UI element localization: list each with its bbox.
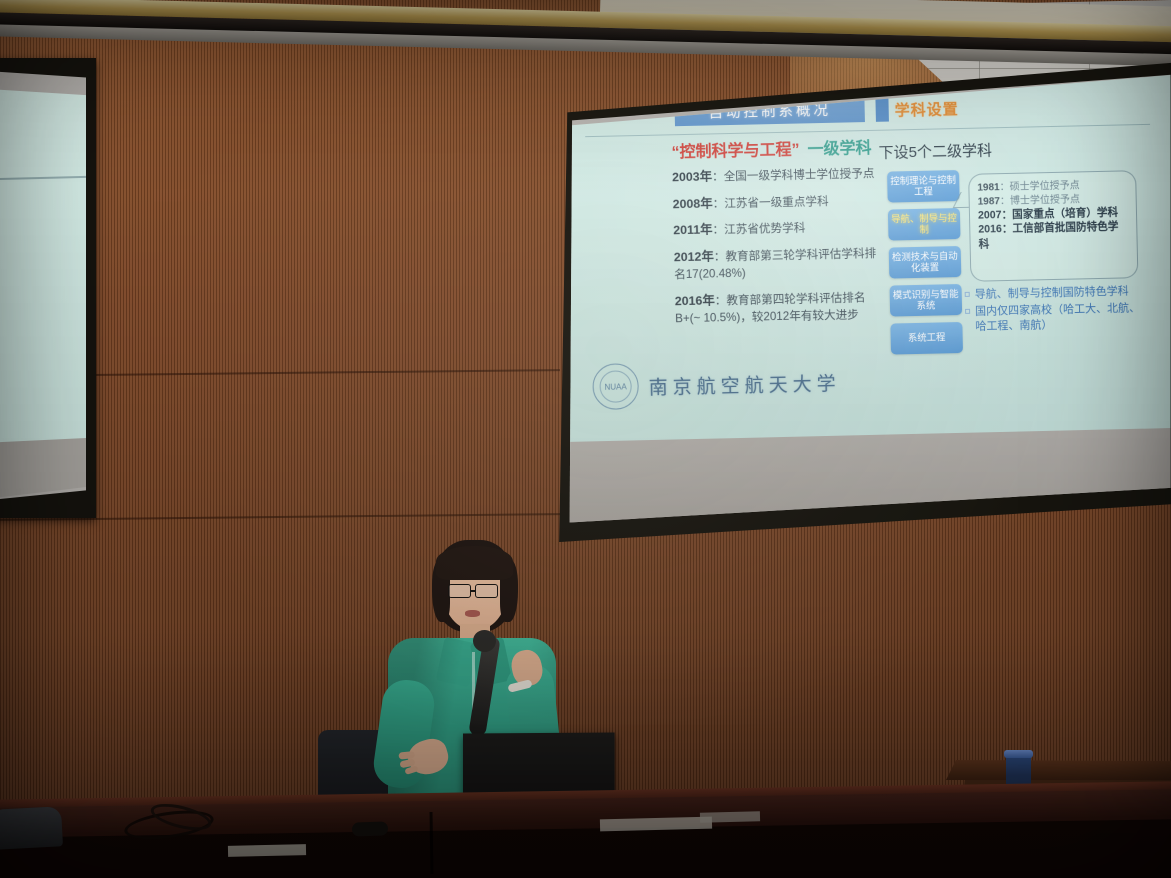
timeline-item: 2003年：全国一级学科博士学位授予点 <box>672 164 877 187</box>
sub-discipline-box: 控制理论与控制工程 <box>887 170 960 203</box>
callout-sep: ： <box>1000 182 1010 193</box>
bullet-marker-icon <box>965 309 970 314</box>
callout-year: 1987 <box>978 196 1000 207</box>
timeline-sep: ： <box>712 223 724 236</box>
callout-text: 博士学位授予点 <box>1010 194 1080 207</box>
bullet-marker-icon <box>965 292 970 297</box>
sub-discipline-box: 模式识别与智能系统 <box>890 284 963 317</box>
timeline-sep: ： <box>713 197 725 210</box>
timeline-year: 2012年 <box>674 249 714 264</box>
projected-slide: 自动控制系概况 学科设置 “控制科学与工程”一级学科 下设5个二级学科 2003… <box>566 72 1171 452</box>
mouth <box>465 610 480 617</box>
callout-year: 1981 <box>977 182 999 193</box>
sub-discipline-box: 检测技术与自动化装置 <box>889 246 962 279</box>
timeline-year: 2011年 <box>673 223 713 238</box>
bullet-item: 国内仅四家高校（哈工大、北航、哈工程、南航） <box>965 301 1146 334</box>
fringe <box>436 546 513 580</box>
desk-device[interactable] <box>352 821 388 836</box>
timeline-sep: ： <box>714 250 726 263</box>
timeline-item: 2011年：江苏省优势学科 <box>673 217 878 240</box>
callout-text: 国家重点（培育）学科 <box>1012 207 1118 221</box>
bullet-text: 国内仅四家高校（哈工大、北航、哈工程、南航） <box>975 301 1146 333</box>
bullet-text: 导航、制导与控制国防特色学科 <box>975 284 1129 302</box>
paper-sheet <box>228 844 306 857</box>
sub-discipline-boxes: 控制理论与控制工程 导航、制导与控制 检测技术与自动化装置 模式识别与智能系统 … <box>887 170 963 362</box>
callout-year: 2007 <box>978 209 1002 222</box>
timeline-item: 2008年：江苏省一级重点学科 <box>672 190 877 213</box>
slide-section-label: 学科设置 <box>894 98 958 120</box>
slide-title-level: 一级学科 <box>807 140 871 158</box>
bottle-lid <box>1004 750 1033 758</box>
main-projection-screen[interactable]: 自动控制系概况 学科设置 “控制科学与工程”一级学科 下设5个二级学科 2003… <box>566 72 1171 528</box>
timeline-item: 2016年：教育部第四轮学科评估排名B+(~ 10.5%)，较2012年有较大进… <box>675 288 881 328</box>
callout-box: 1981：硕士学位授予点 1987：博士学位授予点 2007：国家重点（培育）学… <box>968 170 1138 282</box>
eyeglasses-left-lens <box>448 584 471 598</box>
callout-year: 2016 <box>978 223 1002 236</box>
slide-header-tick <box>875 96 889 122</box>
slide-bullet-list: 导航、制导与控制国防特色学科 国内仅四家高校（哈工大、北航、哈工程、南航） <box>965 284 1146 337</box>
slide-timeline-list: 2003年：全国一级学科博士学位授予点 2008年：江苏省一级重点学科 2011… <box>672 164 881 336</box>
timeline-sep: ： <box>712 170 724 183</box>
paper-sheet <box>700 811 760 822</box>
bullet-item: 导航、制导与控制国防特色学科 <box>965 284 1145 302</box>
secondary-projection-screen <box>0 66 86 508</box>
timeline-year: 2008年 <box>673 196 713 211</box>
callout-sep: ： <box>1000 195 1010 206</box>
secondary-screen-slide <box>0 84 86 456</box>
timeline-year: 2003年 <box>672 169 712 184</box>
timeline-year: 2016年 <box>675 293 715 308</box>
sub-discipline-box-highlighted: 导航、制导与控制 <box>888 208 961 241</box>
callout-sep: ： <box>1002 223 1013 235</box>
callout-line: 2016：工信部首批国防特色学科 <box>978 220 1129 252</box>
callout-sep: ： <box>1001 209 1012 221</box>
timeline-sep: ： <box>715 294 727 307</box>
eyeglasses-bridge <box>471 590 476 592</box>
eyeglasses-right-lens <box>475 584 498 598</box>
university-seal-inner: NUAA <box>599 370 632 403</box>
timeline-text: 江苏省优势学科 <box>724 222 805 237</box>
university-seal-icon: NUAA <box>592 363 639 410</box>
lectern-top <box>946 760 1171 780</box>
bag <box>0 806 63 850</box>
lecture-hall-photo: 自动控制系概况 学科设置 “控制科学与工程”一级学科 下设5个二级学科 2003… <box>0 0 1171 878</box>
timeline-text: 江苏省一级重点学科 <box>724 194 829 209</box>
slide-title: “控制科学与工程”一级学科 <box>671 134 872 162</box>
timeline-item: 2012年：教育部第三轮学科评估学科排名17(20.48%) <box>674 244 880 284</box>
timeline-text: 全国一级学科博士学位授予点 <box>724 167 875 183</box>
university-name: 南京航空航天大学 <box>648 369 841 400</box>
callout-text: 硕士学位授予点 <box>1010 180 1080 193</box>
sub-discipline-box: 系统工程 <box>890 322 963 355</box>
slide-subtitle: 下设5个二级学科 <box>878 139 992 162</box>
slide-title-discipline: “控制科学与工程” <box>671 142 799 162</box>
